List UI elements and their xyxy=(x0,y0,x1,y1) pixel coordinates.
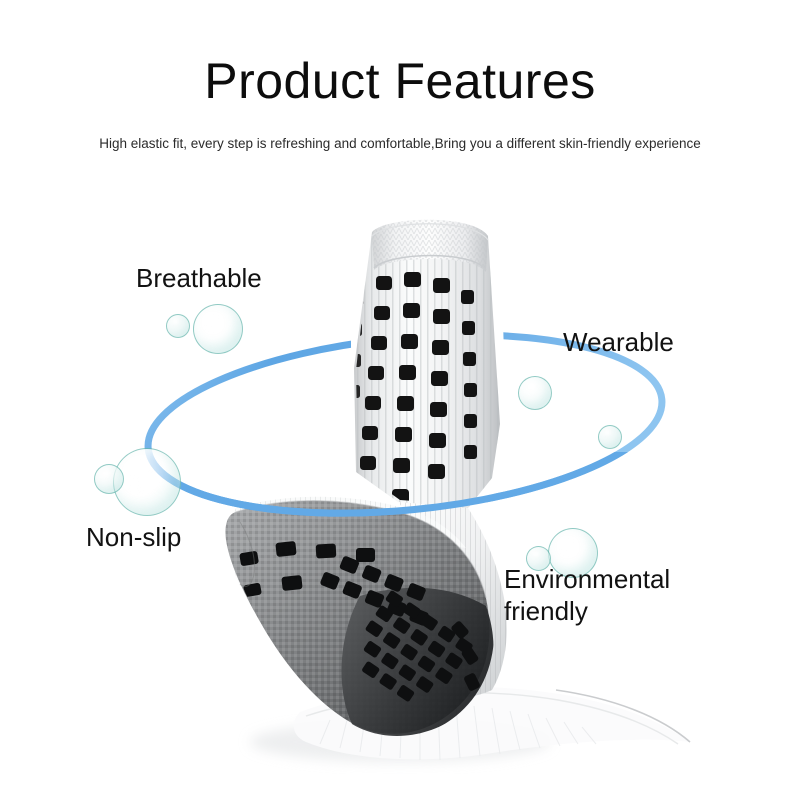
sock-illustration xyxy=(0,0,800,800)
feature-label-non-slip: Non-slip xyxy=(86,521,181,553)
product-feature-poster: Product Features High elastic fit, every… xyxy=(0,0,800,800)
bubble-decoration xyxy=(518,376,552,410)
bubble-decoration xyxy=(193,304,243,354)
feature-label-environmental-friendly: Environmental friendly xyxy=(504,563,670,627)
bubble-decoration xyxy=(598,425,622,449)
feature-label-wearable: Wearable xyxy=(563,326,674,358)
feature-label-breathable: Breathable xyxy=(136,262,262,294)
sock-body xyxy=(225,220,506,736)
bubble-decoration xyxy=(166,314,190,338)
bubble-decoration xyxy=(94,464,124,494)
